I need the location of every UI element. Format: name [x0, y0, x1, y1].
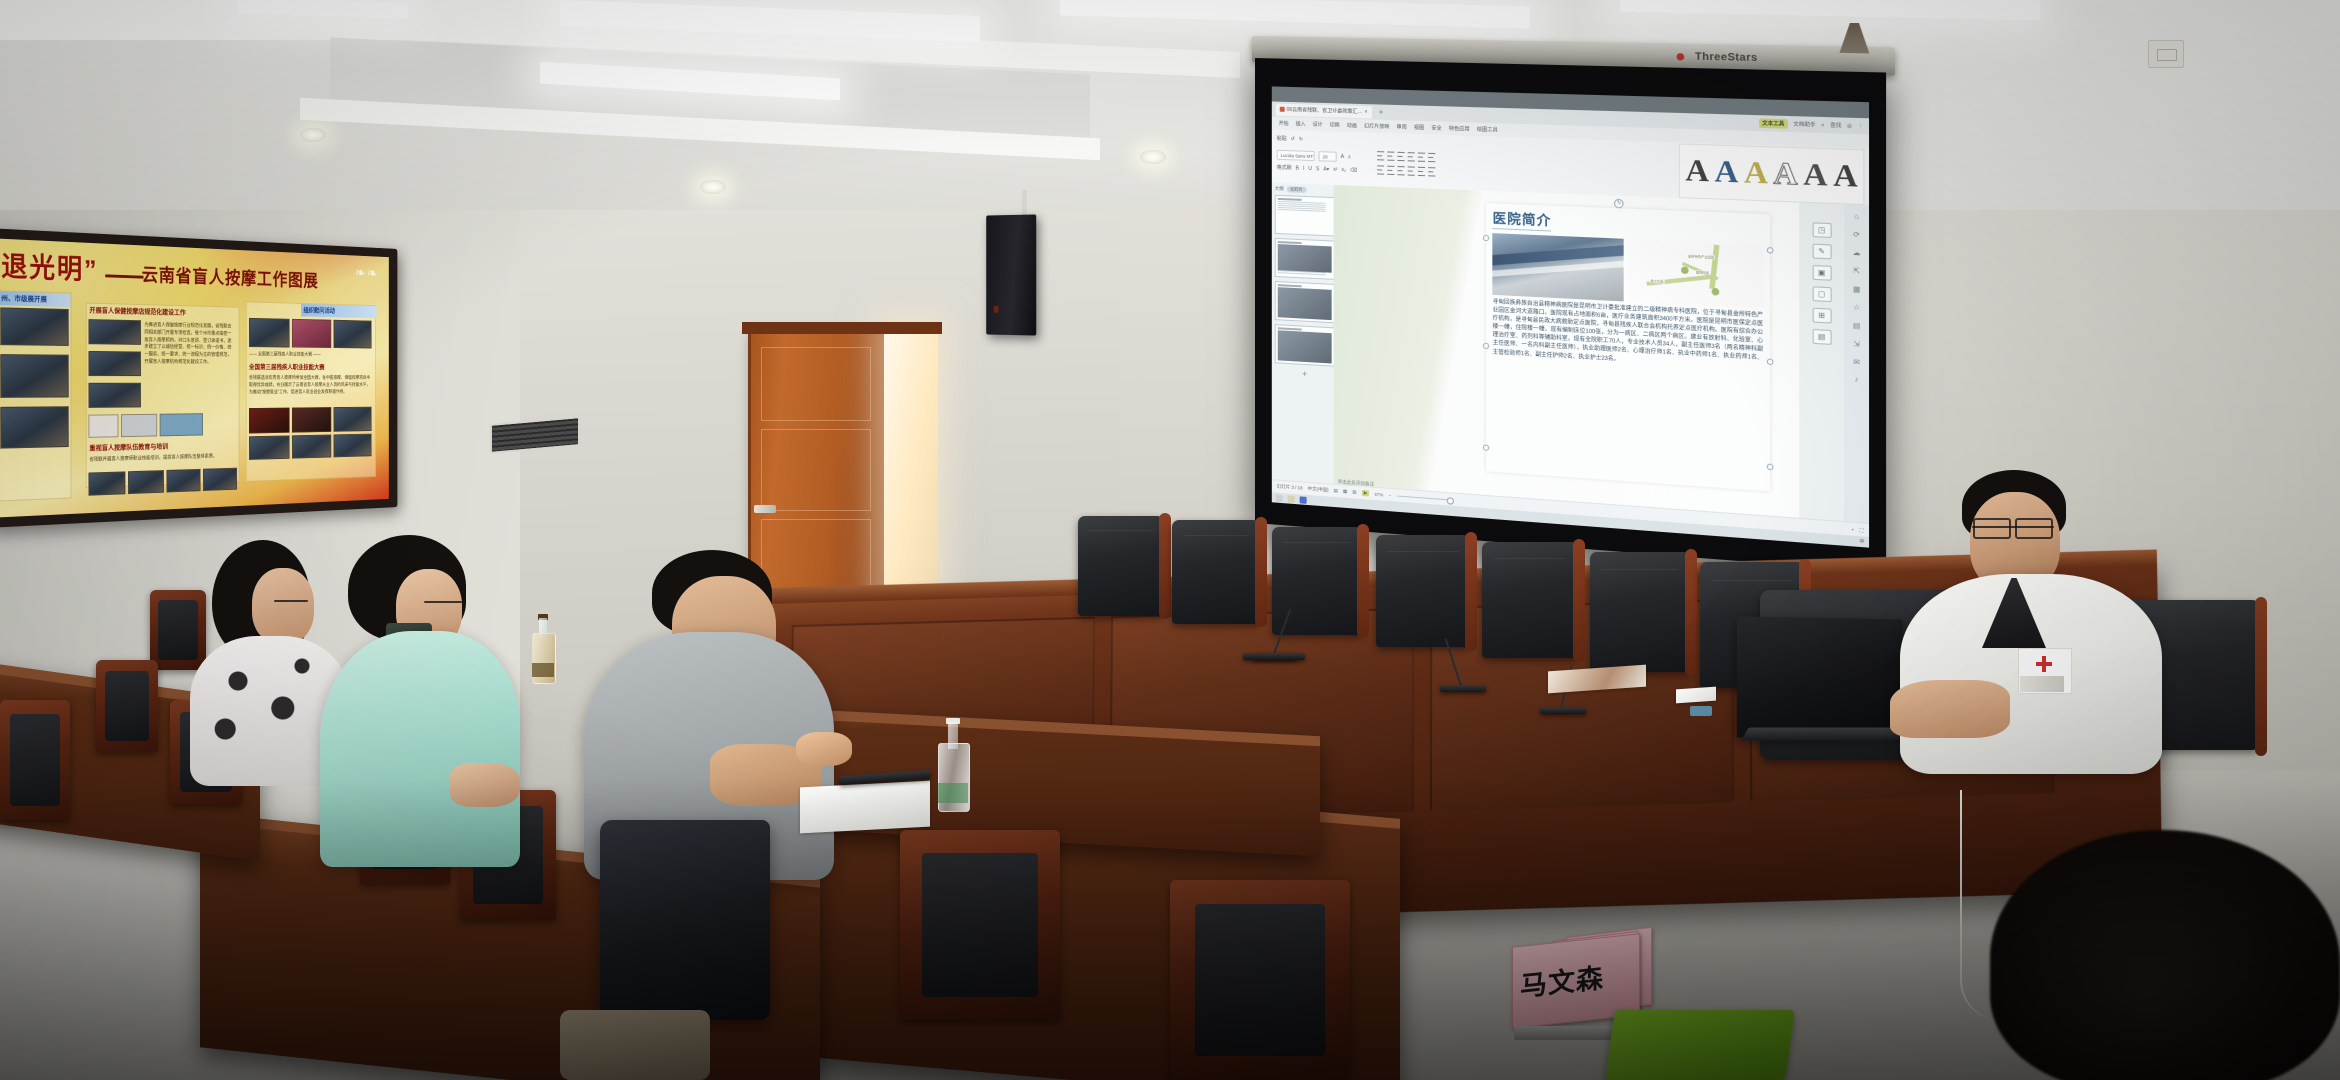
- clear-format-icon[interactable]: ⌫: [1350, 167, 1357, 173]
- zoom-slider[interactable]: [1396, 495, 1454, 500]
- strikethrough-button[interactable]: S: [1316, 166, 1319, 172]
- exhibit-photo: [333, 407, 371, 432]
- home-icon[interactable]: ⌂: [1854, 213, 1859, 221]
- exhibit-panel: 开展盲人保健按摩店规范化建设工作 为推进盲人保健按摩行业规范化发展，省残联会同相…: [86, 303, 240, 488]
- doorway-light: [884, 326, 938, 606]
- wall-speaker: [986, 214, 1036, 335]
- slides-tab[interactable]: 幻灯片: [1287, 186, 1307, 193]
- glasses-icon: [424, 601, 462, 603]
- exhibit-board-subtitle: 云南省盲人按摩工作图展: [142, 261, 319, 292]
- outline-tab[interactable]: 大纲: [1275, 186, 1284, 192]
- exhibit-photo: [128, 470, 164, 494]
- attendee-woman-mint: [320, 535, 530, 865]
- shape-icon[interactable]: ◳: [1812, 222, 1831, 238]
- slide-canvas[interactable]: ↻ 医院简介: [1334, 185, 1799, 519]
- exhibit-photo: [166, 469, 201, 493]
- exhibit-photo: [292, 319, 331, 348]
- chart-icon[interactable]: ▤: [1812, 329, 1831, 345]
- ribbon-tab-review[interactable]: 审阅: [1395, 123, 1407, 130]
- exhibit-panel-body: 省残联选派优秀盲人按摩师参加全国大赛，在中医按摩、保健按摩项目中取得优异成绩，充…: [247, 373, 376, 408]
- exhibit-panel-caption: —— 全国第三届残疾人职业技能大赛 ——: [247, 350, 376, 362]
- ribbon-tab-animation[interactable]: 动画: [1346, 122, 1358, 129]
- columns-icon[interactable]: [1428, 167, 1435, 176]
- audience-chair[interactable]: [96, 660, 158, 752]
- slide-body-text[interactable]: 寻甸回族彝族自治县精神病医院是昆明市卫计委批准建立的二级精神病专科医院，位于寻甸…: [1493, 298, 1763, 372]
- slide-thumbnail[interactable]: [1275, 281, 1335, 323]
- slide-thumbnail[interactable]: [1275, 324, 1335, 367]
- exhibit-photo: [292, 407, 331, 433]
- decrease-indent-icon[interactable]: [1397, 152, 1404, 161]
- wordart-style-2[interactable]: A: [1715, 156, 1739, 189]
- audience-chair[interactable]: [150, 590, 206, 670]
- exhibit-panel-header: 全国第三届残疾人职业技能大赛: [247, 361, 376, 374]
- exhibit-photo: [88, 414, 118, 438]
- brand-dot-icon: [1677, 53, 1685, 61]
- slide-thumbnail[interactable]: [1275, 238, 1335, 280]
- wall-socket: [2148, 40, 2184, 68]
- pen-icon[interactable]: ✎: [1812, 244, 1831, 260]
- selection-handle[interactable]: [1483, 342, 1489, 349]
- taskbar-folder-icon[interactable]: [1288, 495, 1295, 503]
- context-tab-text-tools[interactable]: 文本工具: [1759, 118, 1788, 128]
- exhibit-photo: [88, 319, 140, 345]
- taskbar-wps-icon[interactable]: [1300, 496, 1307, 504]
- glasses-icon: [274, 600, 308, 602]
- exhibit-photo: [88, 471, 125, 495]
- export-icon[interactable]: ⇲: [1853, 340, 1860, 349]
- ribbon-tab-insert[interactable]: 插入: [1295, 120, 1307, 127]
- backpack: [600, 820, 770, 1020]
- exhibit-board-dash: [105, 274, 143, 278]
- align-center-icon[interactable]: [1387, 166, 1394, 175]
- microphone-base[interactable]: [1243, 642, 1305, 660]
- map-label: 金所特色产业园区: [1687, 254, 1715, 259]
- italic-button[interactable]: I: [1303, 165, 1304, 171]
- document-tab[interactable]: 06云南省残联、省卫计委政策汇… ×: [1276, 103, 1372, 118]
- align-right-icon[interactable]: [1397, 166, 1404, 175]
- water-bottle[interactable]: [938, 722, 968, 812]
- right-tool-rail[interactable]: ◳ ✎ ▣ ▢ ⊞ ▤: [1799, 203, 1844, 523]
- justify-icon[interactable]: [1408, 166, 1415, 175]
- current-slide[interactable]: ↻ 医院简介: [1486, 203, 1769, 492]
- zoom-value: 47%: [1374, 491, 1383, 497]
- audience-chair[interactable]: [1170, 880, 1350, 1080]
- status-language[interactable]: 中文(中国): [1308, 486, 1329, 494]
- exhibit-photo: [249, 435, 290, 460]
- exhibit-photo: [121, 414, 157, 437]
- wordart-style-5[interactable]: A: [1803, 159, 1827, 192]
- rotate-handle[interactable]: ↻: [1614, 199, 1624, 209]
- map-road: [1709, 245, 1719, 290]
- ribbon-tab-start[interactable]: 开始: [1278, 120, 1290, 127]
- glasses-lens-left: [1973, 518, 2011, 539]
- ceiling-downlight: [700, 180, 726, 194]
- document-tab-label: 06云南省残联、省卫计委政策汇…: [1287, 106, 1363, 115]
- align-left-icon[interactable]: [1377, 165, 1384, 174]
- exhibit-panel: 州、市级展开展: [0, 290, 71, 501]
- ribbon-tab-security[interactable]: 安全: [1430, 124, 1442, 132]
- projection-screen-surface: 06云南省残联、省卫计委政策汇… × + 文本工具 文档助手 ⌕ 查找 ◎ ⋮ …: [1272, 86, 1869, 547]
- wordart-gallery[interactable]: A A A A A A: [1679, 143, 1865, 205]
- projection-screen: 06云南省残联、省卫计委政策汇… × + 文本工具 文档助手 ⌕ 查找 ◎ ⋮ …: [1255, 58, 1886, 573]
- attendee-mint-top: [320, 631, 520, 867]
- superscript-icon[interactable]: x²: [1333, 166, 1337, 172]
- slide-thumbnail-pane[interactable]: 大纲 幻灯片: [1272, 183, 1339, 486]
- font-size-select[interactable]: 20: [1319, 151, 1337, 162]
- paste-button[interactable]: 粘贴: [1277, 135, 1287, 142]
- slide-thumbnail[interactable]: [1275, 195, 1335, 237]
- far-tool-rail[interactable]: ⌂ ⟳ ☁ ⇱ ▦ ☆ ▤ ⇲ ✉ ♪: [1844, 204, 1869, 524]
- wps-office-window: 06云南省残联、省卫计委政策汇… × + 文本工具 文档助手 ⌕ 查找 ◎ ⋮ …: [1272, 86, 1869, 547]
- placard-name: 马文森: [1520, 956, 1604, 1004]
- play-icon[interactable]: ▶: [1362, 490, 1370, 497]
- sound-icon[interactable]: ♪: [1855, 376, 1859, 384]
- redo-icon[interactable]: ↻: [1299, 136, 1303, 142]
- reading-view-icon[interactable]: ▥: [1352, 489, 1356, 495]
- wordart-style-4[interactable]: A: [1773, 158, 1797, 191]
- wordart-style-3[interactable]: A: [1744, 157, 1768, 190]
- gooseneck-microphone[interactable]: [1440, 630, 1486, 692]
- status-slide-number: 幻灯片 3 / 18: [1277, 484, 1303, 492]
- ceiling-downlight: [300, 128, 326, 142]
- exhibit-photo: [292, 434, 331, 458]
- exhibit-photo: [249, 318, 290, 348]
- screen-brand-label: ThreeStars: [1695, 51, 1758, 64]
- exhibit-photo: [88, 383, 140, 408]
- map-label: 金沙大道: [1649, 279, 1664, 284]
- exhibit-photo: [88, 351, 140, 376]
- subscript-icon[interactable]: x₂: [1341, 167, 1345, 173]
- wordart-style-1[interactable]: A: [1685, 155, 1709, 187]
- context-tab-doc-assistant[interactable]: 文档助手: [1793, 120, 1815, 128]
- taskbar-ime-label[interactable]: 中: [1859, 538, 1864, 545]
- ceiling-downlight: [1140, 150, 1166, 164]
- frame-icon[interactable]: ▢: [1812, 286, 1831, 302]
- conference-chair[interactable]: [1482, 542, 1578, 658]
- staff-id-card: [2020, 676, 2064, 692]
- font-name-select[interactable]: Lucida Sans MT: [1277, 150, 1315, 161]
- help-icon[interactable]: ◎: [1847, 122, 1852, 129]
- grow-font-icon[interactable]: A: [1341, 154, 1344, 160]
- shrink-font-icon[interactable]: ᴀ: [1348, 154, 1351, 160]
- map-marker: [1681, 266, 1689, 274]
- line-spacing-icon[interactable]: [1418, 152, 1425, 161]
- conference-chair[interactable]: [1590, 552, 1690, 672]
- search-label[interactable]: 查找: [1830, 121, 1841, 129]
- bold-button[interactable]: B: [1296, 165, 1299, 171]
- water-bottle[interactable]: [532, 618, 554, 684]
- wordart-style-6[interactable]: A: [1833, 160, 1857, 193]
- ribbon-tab-featured-apps[interactable]: 特色应用: [1448, 125, 1471, 133]
- cloud-icon[interactable]: ☁: [1853, 249, 1861, 258]
- search-icon[interactable]: ⌕: [1821, 122, 1824, 128]
- format-painter-button[interactable]: 格式刷: [1277, 164, 1292, 172]
- map-label: 医院位置: [1695, 271, 1710, 276]
- text-direction-icon[interactable]: [1428, 153, 1435, 162]
- green-bag: [1605, 1010, 1795, 1080]
- close-icon[interactable]: ×: [1364, 109, 1367, 115]
- sync-icon[interactable]: ⟳: [1853, 230, 1860, 239]
- grid-icon[interactable]: ▦: [1853, 285, 1861, 294]
- attendee-hand: [796, 732, 852, 766]
- add-slide-button[interactable]: +: [1275, 367, 1335, 381]
- door-panel: [761, 347, 871, 421]
- doctor-presenter: [1900, 470, 2160, 770]
- editor-body: 大纲 幻灯片: [1272, 183, 1869, 524]
- hospital-building-photo[interactable]: [1493, 233, 1624, 301]
- red-cross-badge: [2036, 656, 2052, 672]
- conference-chair[interactable]: [1172, 520, 1260, 624]
- slide-media-row: 金所特色产业园区 医院位置 金沙大道: [1493, 233, 1763, 308]
- laptop-led: [1690, 706, 1712, 716]
- table-icon[interactable]: ⊞: [1812, 308, 1831, 324]
- attendee-head: [252, 568, 314, 644]
- distribute-icon[interactable]: [1418, 167, 1425, 176]
- conference-room-photo: 退光明” 云南省盲人按摩工作图展 ❧❧ 州、市级展开展 开展盲人保健按摩店规范化…: [0, 0, 2340, 1080]
- exhibit-photo: [160, 413, 203, 436]
- meeting-documents[interactable]: [1676, 687, 1716, 704]
- underline-button[interactable]: U: [1308, 165, 1312, 171]
- presenter-hand: [1890, 680, 2010, 738]
- exhibit-board-surface: 退光明” 云南省盲人按摩工作图展 ❧❧ 州、市级展开展 开展盲人保健按摩店规范化…: [0, 239, 389, 518]
- exhibit-board-headline: 退光明”: [1, 245, 98, 288]
- selection-handle[interactable]: [1766, 358, 1773, 365]
- exhibit-photo: [333, 434, 371, 458]
- door-handle[interactable]: [754, 505, 776, 513]
- star-icon[interactable]: ☆: [1853, 303, 1860, 312]
- normal-view-icon[interactable]: ▤: [1334, 488, 1338, 494]
- doc-icon[interactable]: ▤: [1853, 321, 1861, 330]
- ribbon-tab-slideshow[interactable]: 幻灯片放映: [1363, 122, 1390, 130]
- zoom-out-icon[interactable]: −: [1389, 492, 1392, 497]
- new-tab-button[interactable]: +: [1376, 107, 1387, 116]
- zoom-in-icon[interactable]: +: [1851, 526, 1854, 532]
- meeting-documents[interactable]: [800, 781, 930, 834]
- map-marker: [1711, 288, 1719, 296]
- exhibit-photo: [0, 307, 68, 346]
- presentation-icon: [1280, 107, 1285, 112]
- bullets-icon[interactable]: [1377, 151, 1384, 160]
- more-icon[interactable]: ⋮: [1858, 123, 1864, 130]
- exhibit-photo: [203, 468, 237, 491]
- slide-title[interactable]: 医院简介: [1493, 207, 1552, 231]
- exhibit-photo: [0, 354, 68, 398]
- slide-sorter-icon[interactable]: ▦: [1343, 488, 1347, 494]
- selection-handle[interactable]: [1766, 464, 1773, 471]
- exhibit-photo: [0, 406, 68, 448]
- undo-icon[interactable]: ↺: [1291, 136, 1295, 142]
- dove-icon: ❧❧: [355, 264, 379, 282]
- door-panel: [761, 429, 871, 511]
- audience-chair[interactable]: [0, 700, 70, 820]
- exhibit-board: 退光明” 云南省盲人按摩工作图展 ❧❧ 州、市级展开展 开展盲人保健按摩店规范化…: [0, 228, 397, 528]
- ribbon-tab-drawing-tools[interactable]: 绘图工具: [1476, 126, 1499, 134]
- exhibit-panel: 组织慰问活动 —— 全国第三届残疾人职业技能大赛 —— 全国第三届残疾人职业技能…: [246, 301, 376, 482]
- selection-handle[interactable]: [1766, 247, 1773, 254]
- attendee-hand: [450, 763, 520, 807]
- door-frame: [742, 322, 942, 334]
- exhibit-panel-header: 州、市级展开展: [0, 291, 71, 307]
- exhibit-panel-body: 为推进盲人保健按摩行业规范化发展，省残联会同相关部门开展专项检查，每个州市重点抽…: [142, 320, 237, 396]
- glasses-lens-right: [2015, 518, 2053, 539]
- laptop-screen[interactable]: [1737, 616, 1903, 737]
- location-map[interactable]: 金所特色产业园区 医院位置 金沙大道: [1628, 239, 1763, 308]
- share-icon[interactable]: ⇱: [1853, 267, 1860, 276]
- conference-chair[interactable]: [1078, 516, 1164, 616]
- selection-handle[interactable]: [1483, 444, 1489, 451]
- selection-handle[interactable]: [1483, 235, 1489, 241]
- numbering-icon[interactable]: [1387, 151, 1394, 160]
- mail-icon[interactable]: ✉: [1853, 358, 1860, 367]
- ribbon-tab-design[interactable]: 设计: [1312, 121, 1324, 128]
- exhibit-photo: [333, 320, 371, 349]
- ribbon-tab-view[interactable]: 视图: [1413, 124, 1425, 132]
- increase-indent-icon[interactable]: [1408, 152, 1415, 161]
- handbag: [560, 1010, 710, 1080]
- exhibit-photo: [249, 408, 290, 434]
- taskbar-start-icon[interactable]: [1276, 494, 1283, 502]
- text-color-icon[interactable]: A▾: [1323, 166, 1329, 172]
- fit-slide-icon[interactable]: ⛶: [1860, 527, 1864, 533]
- ribbon-tab-transition[interactable]: 切换: [1329, 121, 1341, 128]
- image-icon[interactable]: ▣: [1812, 265, 1831, 281]
- audience-chair[interactable]: [900, 830, 1060, 1020]
